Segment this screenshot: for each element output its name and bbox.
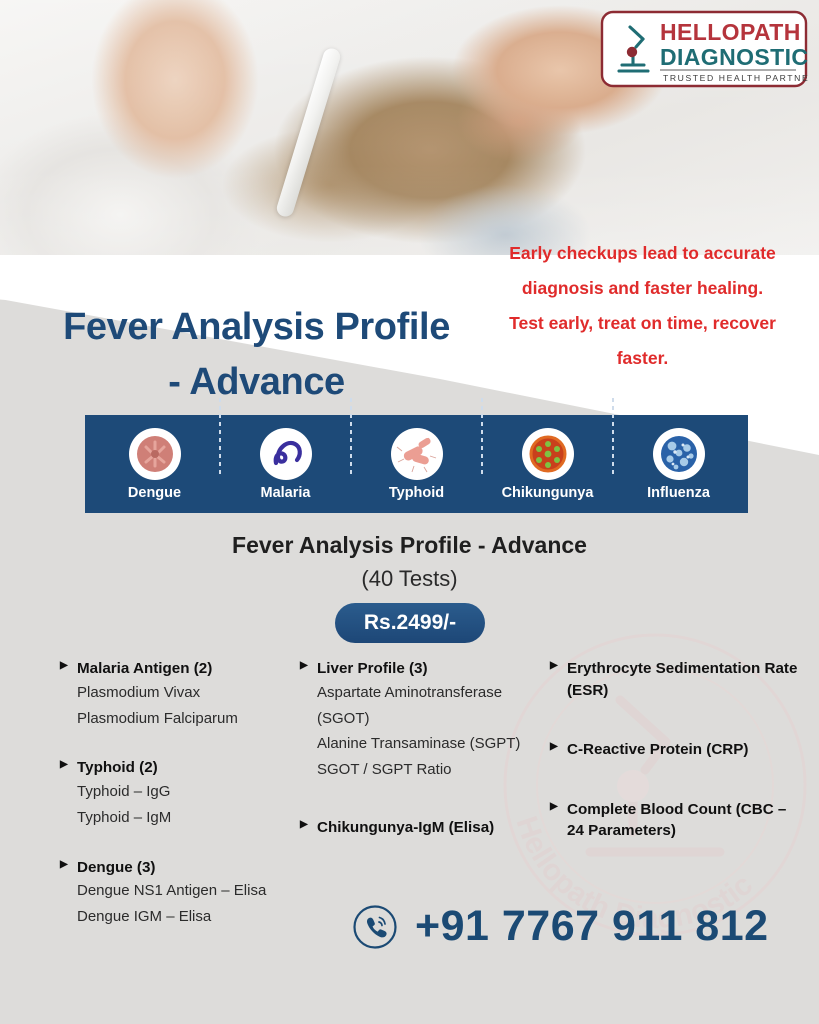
test-item: Aspartate Aminotransferase (SGOT) bbox=[300, 680, 550, 732]
test-group: Liver Profile (3) Aspartate Aminotransfe… bbox=[300, 658, 550, 783]
tagline-line-3: Test early, treat on time, recover bbox=[470, 306, 815, 341]
test-group: Complete Blood Count (CBC – 24 Parameter… bbox=[550, 799, 805, 842]
test-item: Alanine Transaminase (SGPT) bbox=[300, 731, 550, 757]
test-group-heading: Erythrocyte Sedimentation Rate (ESR) bbox=[550, 658, 805, 701]
contact-phone[interactable]: +91 7767 911 812 bbox=[352, 902, 769, 951]
test-group-heading: Typhoid (2) bbox=[60, 757, 300, 779]
page-title-line-2: - Advance bbox=[34, 355, 479, 410]
disease-label: Malaria bbox=[261, 485, 311, 501]
profile-name: Fever Analysis Profile - Advance bbox=[0, 532, 819, 559]
tagline: Early checkups lead to accurate diagnosi… bbox=[470, 236, 815, 376]
dengue-virus-icon bbox=[129, 428, 181, 480]
test-group-heading: Liver Profile (3) bbox=[300, 658, 550, 680]
test-item: SGOT / SGPT Ratio bbox=[300, 757, 550, 783]
disease-label: Influenza bbox=[647, 485, 710, 501]
page-title-line-1: Fever Analysis Profile bbox=[34, 300, 479, 355]
page-title: Fever Analysis Profile - Advance bbox=[34, 300, 479, 410]
test-group: Chikungunya-IgM (Elisa) bbox=[300, 817, 550, 839]
test-item: Plasmodium Falciparum bbox=[60, 706, 300, 732]
test-group-heading: C-Reactive Protein (CRP) bbox=[550, 739, 805, 761]
brand-logo: HELLOPATH DIAGNOSTIC TRUSTED HEALTH PART… bbox=[600, 10, 808, 88]
chikungunya-virus-icon bbox=[522, 428, 574, 480]
influenza-virus-icon bbox=[653, 428, 705, 480]
malaria-parasite-icon bbox=[260, 428, 312, 480]
disease-label: Typhoid bbox=[389, 485, 444, 501]
profile-test-count: (40 Tests) bbox=[0, 566, 819, 592]
disease-label: Dengue bbox=[128, 485, 181, 501]
logo-name-top: HELLOPATH bbox=[660, 19, 801, 45]
logo-name-bottom: DIAGNOSTIC bbox=[660, 44, 808, 70]
typhoid-bacteria-icon bbox=[391, 428, 443, 480]
test-group: Malaria Antigen (2) Plasmodium Vivax Pla… bbox=[60, 658, 300, 731]
tagline-line-4: faster. bbox=[470, 341, 815, 376]
tagline-line-2: diagnosis and faster healing. bbox=[470, 271, 815, 306]
phone-number: +91 7767 911 812 bbox=[415, 902, 769, 951]
test-group: C-Reactive Protein (CRP) bbox=[550, 739, 805, 761]
test-item: Dengue IGM – Elisa bbox=[60, 904, 300, 930]
disease-item-typhoid: Typhoid bbox=[351, 428, 482, 501]
disease-label: Chikungunya bbox=[502, 485, 594, 501]
test-group-heading: Dengue (3) bbox=[60, 857, 300, 879]
disease-item-dengue: Dengue bbox=[89, 428, 220, 501]
tagline-line-1: Early checkups lead to accurate bbox=[470, 236, 815, 271]
test-item: Typhoid – IgM bbox=[60, 805, 300, 831]
disease-item-influenza: Influenza bbox=[613, 428, 744, 501]
test-group-heading: Chikungunya-IgM (Elisa) bbox=[300, 817, 550, 839]
test-column-1: Malaria Antigen (2) Plasmodium Vivax Pla… bbox=[60, 658, 300, 956]
phone-in-circle-icon bbox=[352, 904, 398, 950]
test-item: Typhoid – IgG bbox=[60, 779, 300, 805]
disease-banner: Dengue Malaria bbox=[85, 415, 748, 513]
test-group: Erythrocyte Sedimentation Rate (ESR) bbox=[550, 658, 805, 701]
test-group: Typhoid (2) Typhoid – IgG Typhoid – IgM bbox=[60, 757, 300, 830]
poster-root: Hellopath Diagnostic HELLOPATH DIAGNOSTI… bbox=[0, 0, 819, 1024]
price-badge: Rs.2499/- bbox=[335, 603, 485, 643]
test-group: Dengue (3) Dengue NS1 Antigen – Elisa De… bbox=[60, 857, 300, 930]
test-group-heading: Malaria Antigen (2) bbox=[60, 658, 300, 680]
logo-subtitle: TRUSTED HEALTH PARTNER bbox=[663, 73, 808, 83]
disease-item-malaria: Malaria bbox=[220, 428, 351, 501]
test-group-heading: Complete Blood Count (CBC – 24 Parameter… bbox=[550, 799, 805, 842]
test-item: Dengue NS1 Antigen – Elisa bbox=[60, 878, 300, 904]
test-item: Plasmodium Vivax bbox=[60, 680, 300, 706]
disease-item-chikungunya: Chikungunya bbox=[482, 428, 613, 501]
